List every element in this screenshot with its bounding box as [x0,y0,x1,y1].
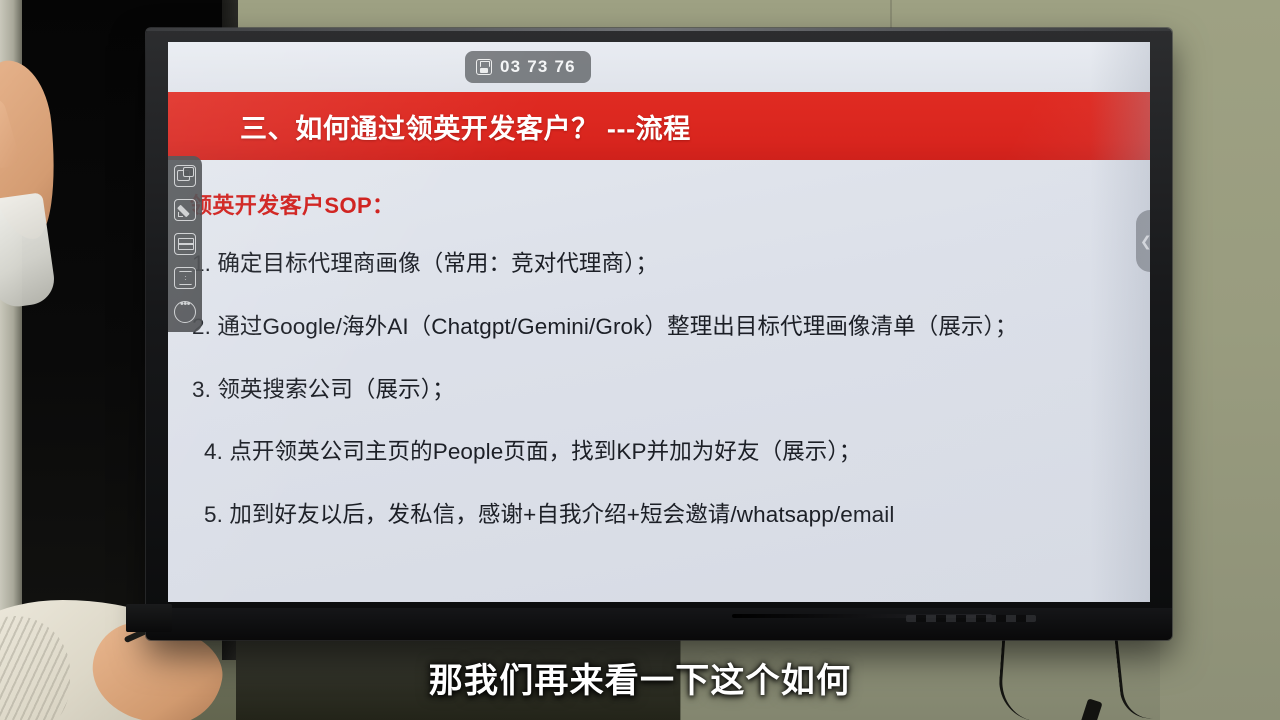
finger [0,96,21,170]
display-chin [146,608,1172,640]
hourglass-icon[interactable] [174,267,196,289]
slide-body: 领英开发客户SOP： 1. 确定目标代理商画像（常用：竞对代理商）； 2. 通过… [168,160,1150,602]
display-stand-foot [126,604,172,632]
slide-top-strip [168,42,1150,92]
interactive-display: 03 73 76 三、如何通过领英开发客户？ ---流程 领英开发客户SOP： … [146,28,1172,640]
list-item: 5. 加到好友以后，发私信，感谢+自我介绍+短会邀请/whatsapp/emai… [192,501,1132,530]
bezel-highlight [146,28,1172,31]
pen-icon[interactable] [174,199,196,221]
slide-title-banner: 三、如何通过领英开发客户？ ---流程 [168,92,1150,160]
save-disk-icon [476,59,492,75]
chevron-left-icon: ❮ [1140,234,1150,248]
more-icon[interactable] [174,301,196,323]
floating-toolbar[interactable] [168,156,202,332]
status-badge-text: 03 73 76 [500,57,576,77]
port-strip [906,615,1036,622]
windows-icon[interactable] [174,165,196,187]
slide-title: 三、如何通过领英开发客户？ ---流程 [240,107,691,146]
save-icon[interactable] [174,233,196,255]
screen[interactable]: 03 73 76 三、如何通过领英开发客户？ ---流程 领英开发客户SOP： … [168,42,1150,602]
list-item: 1. 确定目标代理商画像（常用：竞对代理商）； [192,250,1132,279]
right-panel-handle[interactable]: ❮ [1136,210,1150,272]
list-item: 3. 领英搜索公司（展示）； [192,376,1132,405]
video-caption: 那我们再来看一下这个如何 [0,653,1280,702]
list-item: 4. 点开领英公司主页的People页面，找到KP并加为好友（展示）； [192,438,1132,467]
list-item: 2. 通过Google/海外AI（Chatgpt/Gemini/Grok）整理出… [192,313,1132,342]
section-heading: 领英开发客户SOP： [190,188,394,220]
status-badge[interactable]: 03 73 76 [465,51,591,83]
steps-list: 1. 确定目标代理商画像（常用：竞对代理商）； 2. 通过Google/海外AI… [192,250,1132,564]
